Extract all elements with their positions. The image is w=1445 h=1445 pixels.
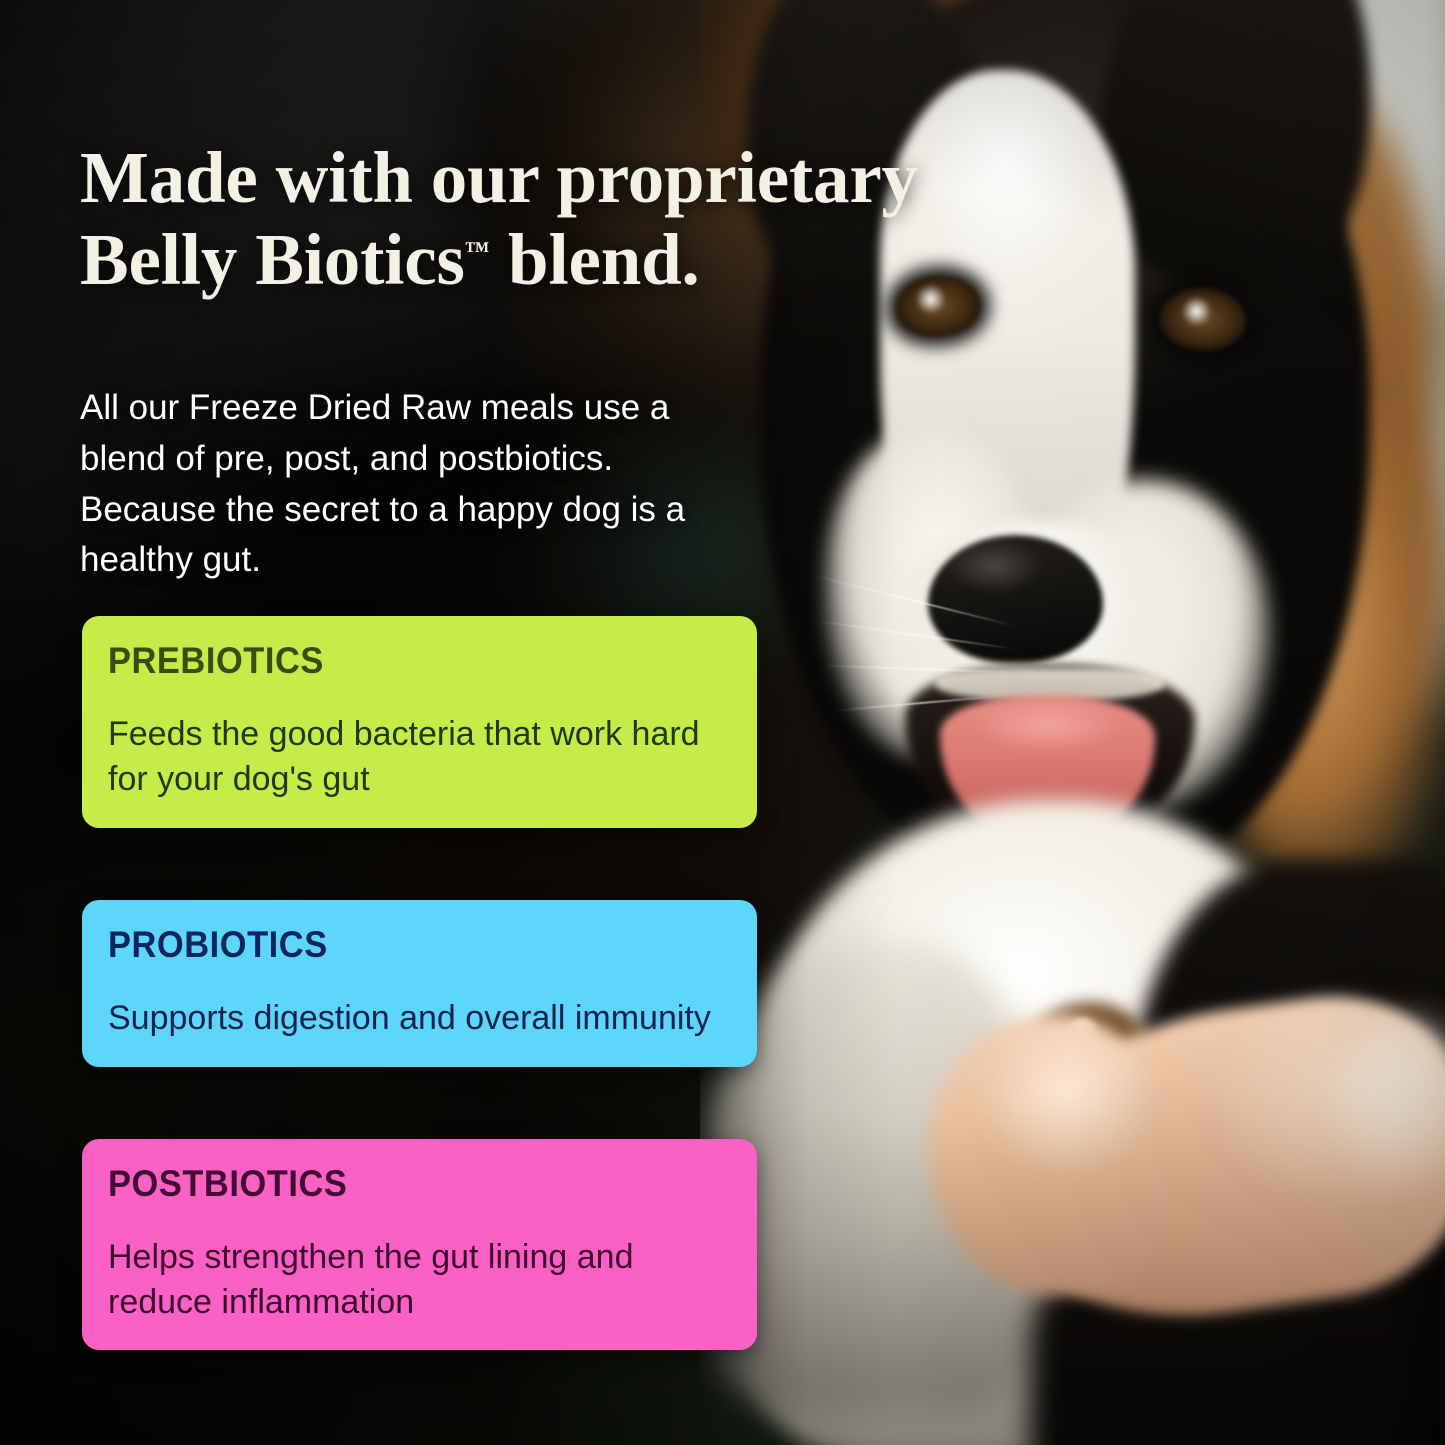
trademark-symbol: ™ xyxy=(465,237,490,264)
page-title: Made with our proprietary Belly Biotics™… xyxy=(80,137,980,301)
benefit-cards: PREBIOTICS Feeds the good bacteria that … xyxy=(82,616,757,1350)
card-probiotics-body: Supports digestion and overall immunity xyxy=(108,996,731,1041)
card-probiotics-title: PROBIOTICS xyxy=(108,924,687,966)
card-probiotics: PROBIOTICS Supports digestion and overal… xyxy=(82,900,757,1067)
headline-line-2-suffix: blend. xyxy=(490,219,700,300)
card-prebiotics-body: Feeds the good bacteria that work hard f… xyxy=(108,712,731,802)
card-postbiotics-title: POSTBIOTICS xyxy=(108,1163,687,1205)
promo-image: Made with our proprietary Belly Biotics™… xyxy=(0,0,1445,1445)
content-layer: Made with our proprietary Belly Biotics™… xyxy=(0,0,1445,1445)
card-postbiotics-body: Helps strengthen the gut lining and redu… xyxy=(108,1235,731,1325)
headline-line-1: Made with our proprietary xyxy=(80,137,918,218)
card-prebiotics-title: PREBIOTICS xyxy=(108,640,687,682)
card-postbiotics: POSTBIOTICS Helps strengthen the gut lin… xyxy=(82,1139,757,1351)
card-prebiotics: PREBIOTICS Feeds the good bacteria that … xyxy=(82,616,757,828)
headline-brand: Belly Biotics xyxy=(80,219,465,300)
intro-paragraph: All our Freeze Dried Raw meals use a ble… xyxy=(80,383,720,586)
